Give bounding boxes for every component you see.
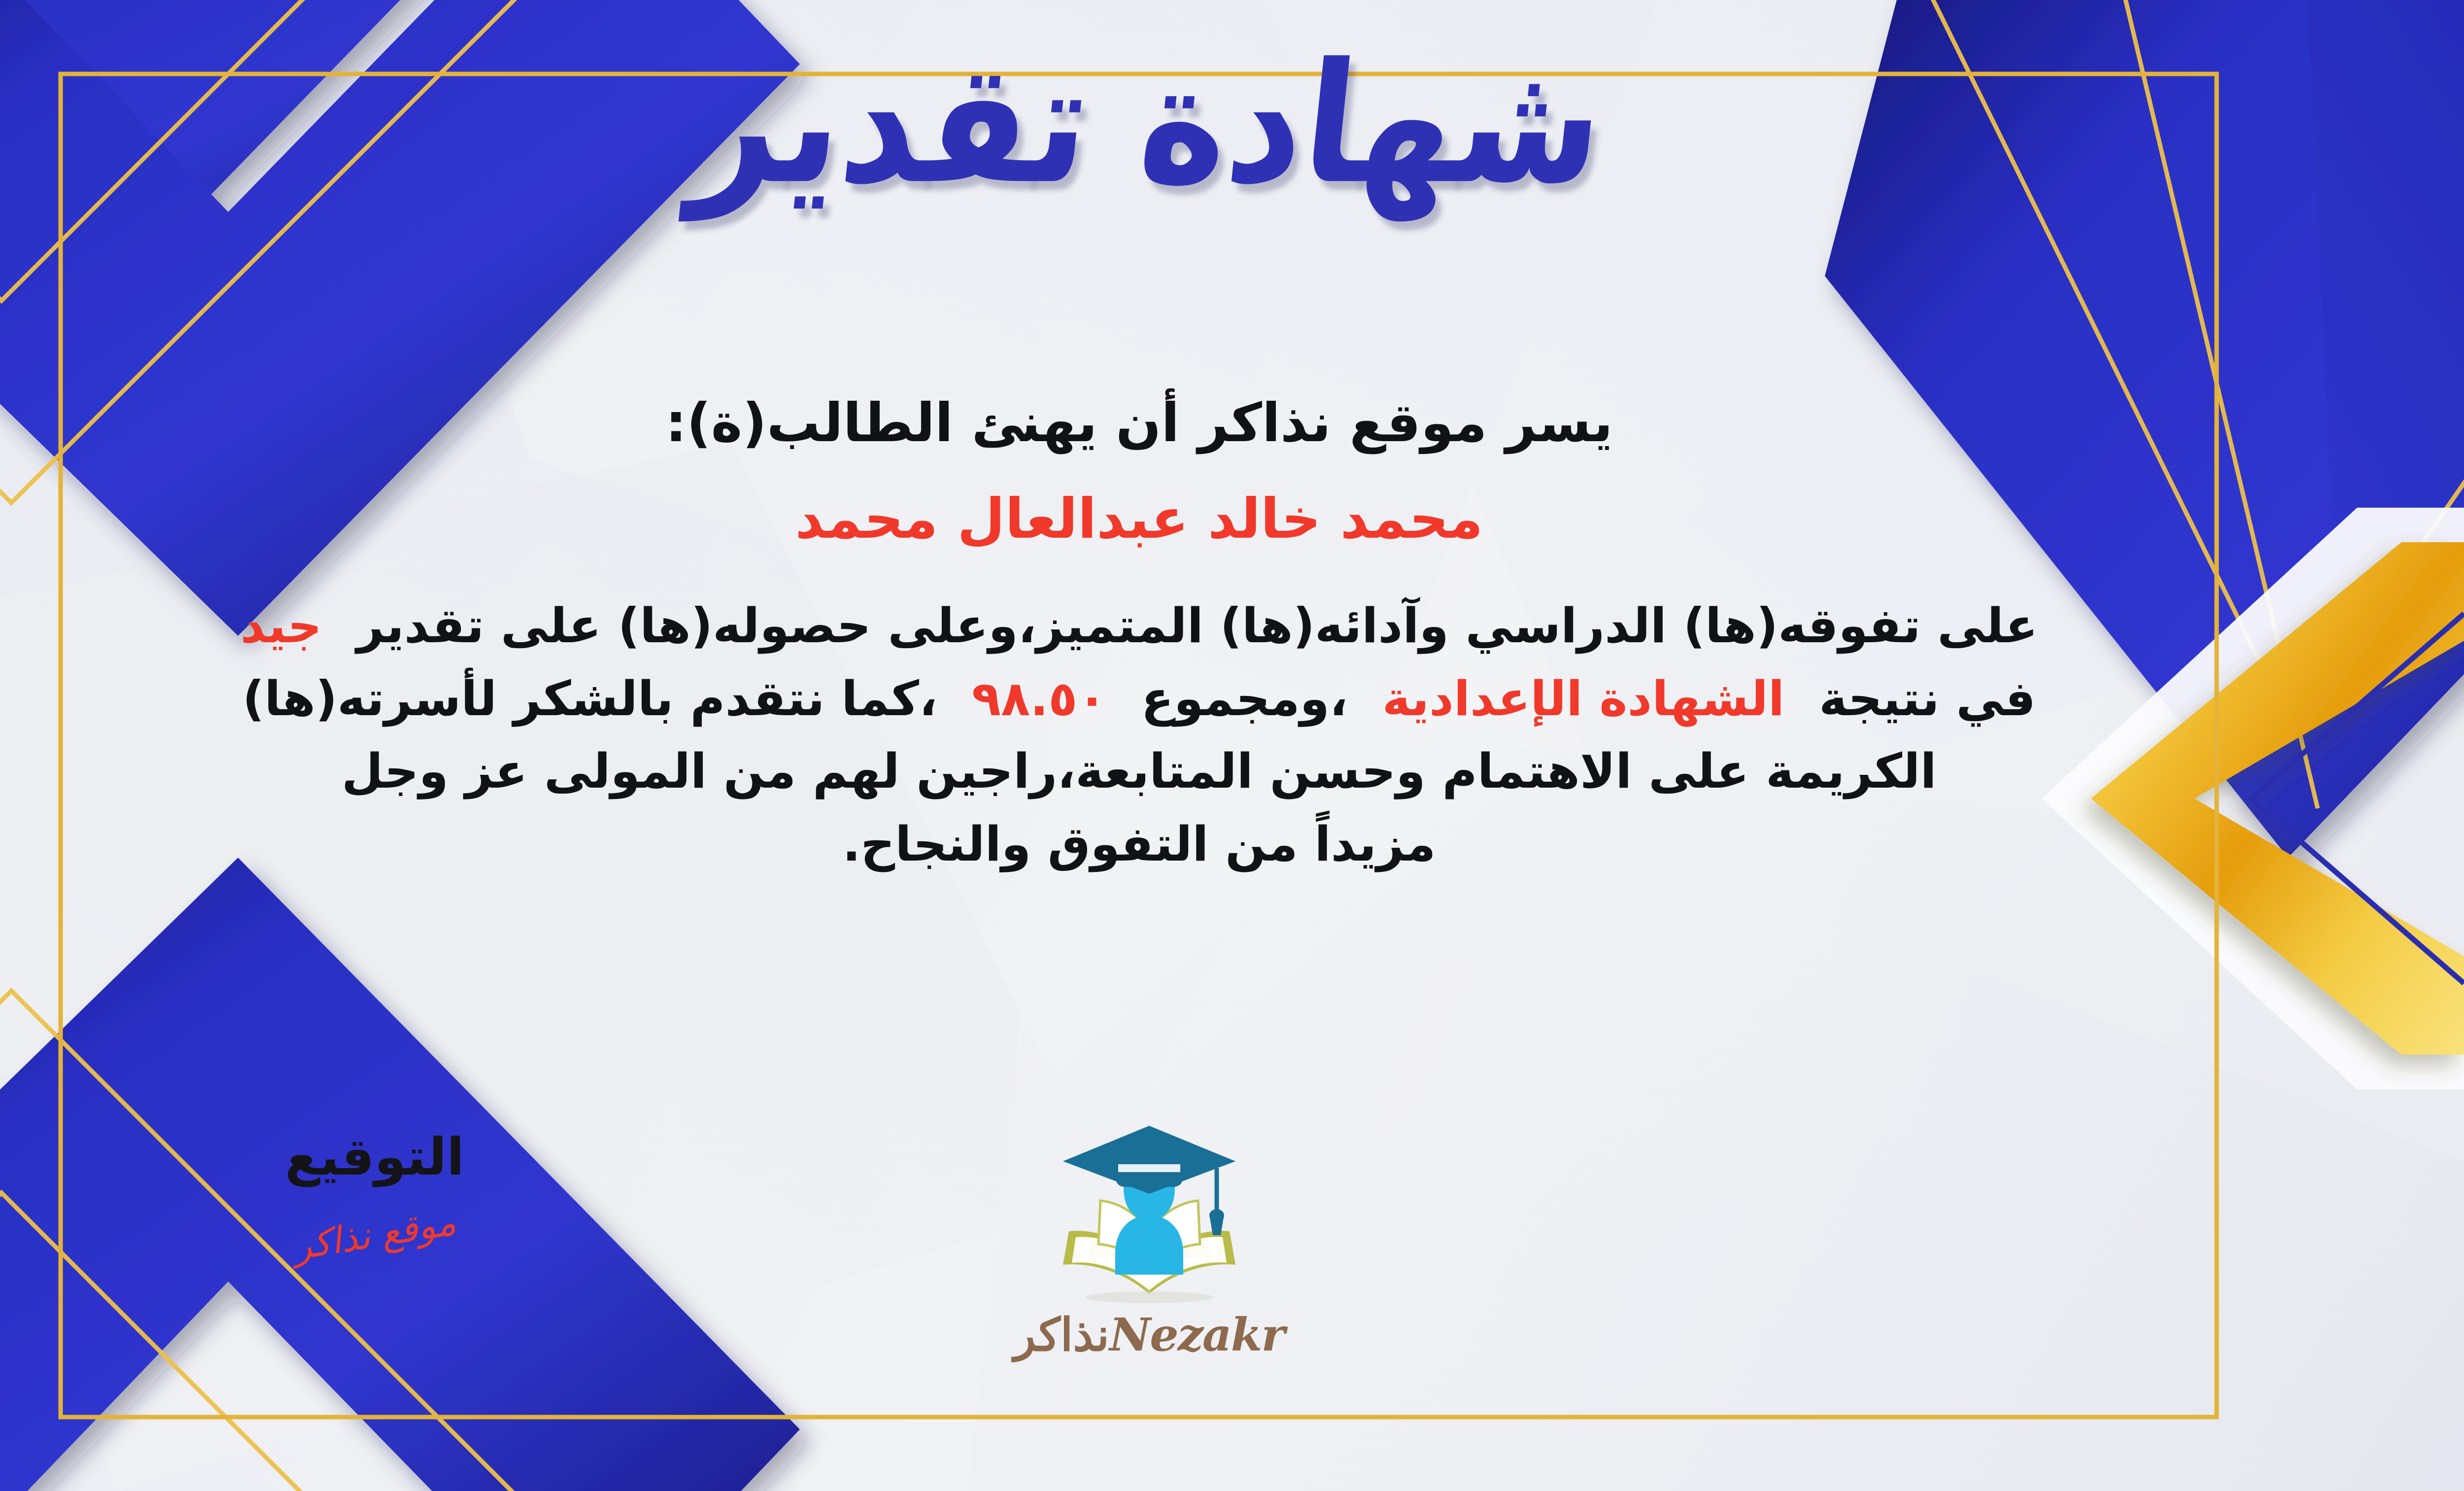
site-logo: Nezakrنذاكر bbox=[0, 1119, 2464, 1361]
result-prefix: في نتيجة bbox=[1819, 671, 2036, 727]
logo-latin-name: Nezakr bbox=[1109, 1308, 1284, 1361]
logo-arabic-name: نذاكر bbox=[1014, 1308, 1109, 1361]
certificate-title-area: شهادة تقدير bbox=[0, 37, 2464, 211]
certificate-title: شهادة تقدير bbox=[684, 27, 1613, 222]
achievement-paragraph: على تفوقه(ها) الدراسي وآدائه(ها) المتميز… bbox=[90, 589, 2188, 880]
grade-value: جيد bbox=[240, 598, 322, 654]
student-name: محمد خالد عبدالعال محمد bbox=[90, 487, 2188, 551]
logo-wordmark: Nezakrنذاكر bbox=[1014, 1308, 1284, 1361]
certificate-footer: التوقيع موقع نذاكر bbox=[0, 1129, 2464, 1444]
exam-name: الشهادة الإعدادية bbox=[1382, 671, 1784, 727]
achievement-line-2: في نتيجةالشهادة الإعدادية،ومجموع٩٨.٥٠،كم… bbox=[90, 662, 2188, 735]
logo-graphic bbox=[1043, 1119, 1255, 1311]
achievement-line-4: مزيداً من التفوق والنجاح. bbox=[90, 808, 2188, 880]
certificate-body: يسر موقع نذاكر أن يهنئ الطالب(ة): محمد خ… bbox=[90, 389, 2188, 880]
certificate-page: شهادة تقدير يسر موقع نذاكر أن يهنئ الطال… bbox=[0, 0, 2464, 1491]
achievement-line-1: على تفوقه(ها) الدراسي وآدائه(ها) المتميز… bbox=[90, 589, 2188, 662]
achievement-line-3: الكريمة على الاهتمام وحسن المتابعة،راجين… bbox=[90, 735, 2188, 807]
total-label: ،ومجموع bbox=[1141, 671, 1348, 727]
achievement-text-1: على تفوقه(ها) الدراسي وآدائه(ها) المتميز… bbox=[356, 598, 2038, 654]
intro-line: يسر موقع نذاكر أن يهنئ الطالب(ة): bbox=[90, 389, 2188, 457]
total-score: ٩٨.٥٠ bbox=[972, 671, 1107, 727]
thanks-text: ،كما نتقدم بالشكر لأسرته(ها) bbox=[242, 671, 937, 727]
